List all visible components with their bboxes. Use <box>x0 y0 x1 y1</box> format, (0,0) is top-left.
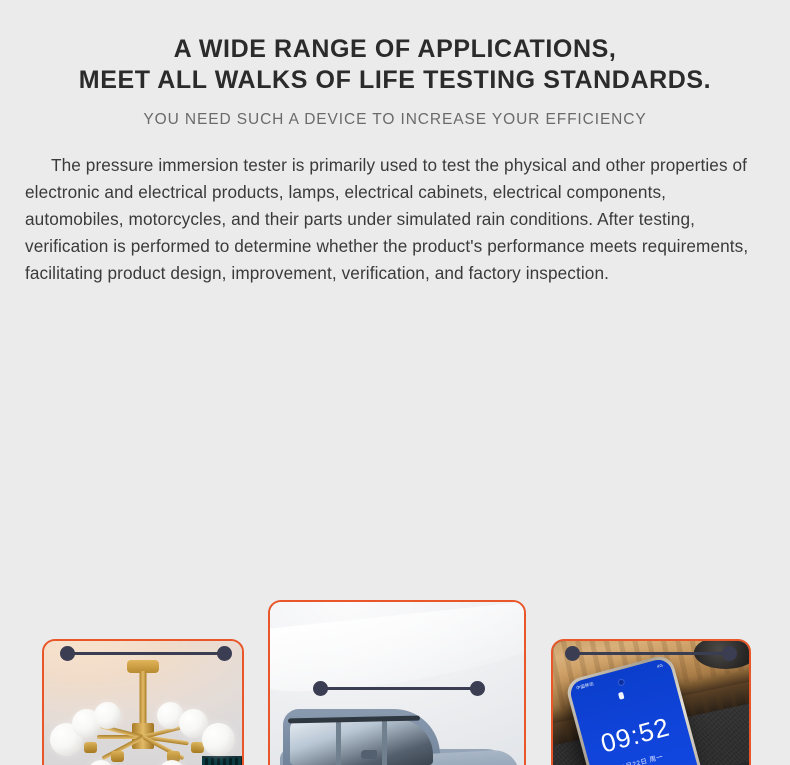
slider-knob-end[interactable] <box>217 646 232 661</box>
car-c-pillar <box>382 719 387 765</box>
description-paragraph: The pressure immersion tester is primari… <box>25 152 765 287</box>
slider-knob-end[interactable] <box>470 681 485 696</box>
slider-knob-end[interactable] <box>722 646 737 661</box>
chandelier-rod <box>140 671 147 725</box>
applications-banner: A WIDE RANGE OF APPLICATIONS, MEET ALL W… <box>0 0 790 765</box>
page-subtitle: YOU NEED SUCH A DEVICE TO INCREASE YOUR … <box>0 110 790 130</box>
slider-knob-start[interactable] <box>313 681 328 696</box>
glass-globe <box>94 702 121 729</box>
car-b-pillar <box>336 719 341 765</box>
notification-indicator-icon <box>618 692 625 700</box>
slider-track <box>320 687 478 690</box>
globe-socket <box>84 742 97 753</box>
carrier-label: 中国移动 <box>576 681 595 691</box>
application-cards: LAMPS <box>0 287 790 537</box>
front-camera-icon <box>617 678 626 687</box>
slider-lamps[interactable] <box>60 645 232 661</box>
slider-knob-start[interactable] <box>60 646 75 661</box>
car-side-mirror <box>361 750 377 759</box>
page-title-line-1: A WIDE RANGE OF APPLICATIONS, <box>0 34 790 65</box>
slider-track <box>67 652 225 655</box>
page-title-line-2: MEET ALL WALKS OF LIFE TESTING STANDARDS… <box>0 65 790 96</box>
dark-curtain <box>202 758 242 765</box>
slider-car[interactable] <box>313 680 485 696</box>
slider-track <box>572 652 730 655</box>
page-header: A WIDE RANGE OF APPLICATIONS, MEET ALL W… <box>0 0 790 130</box>
globe-socket <box>111 751 124 762</box>
slider-knob-start[interactable] <box>565 646 580 661</box>
slider-electronics[interactable] <box>565 645 737 661</box>
network-label: 4G <box>657 663 664 670</box>
